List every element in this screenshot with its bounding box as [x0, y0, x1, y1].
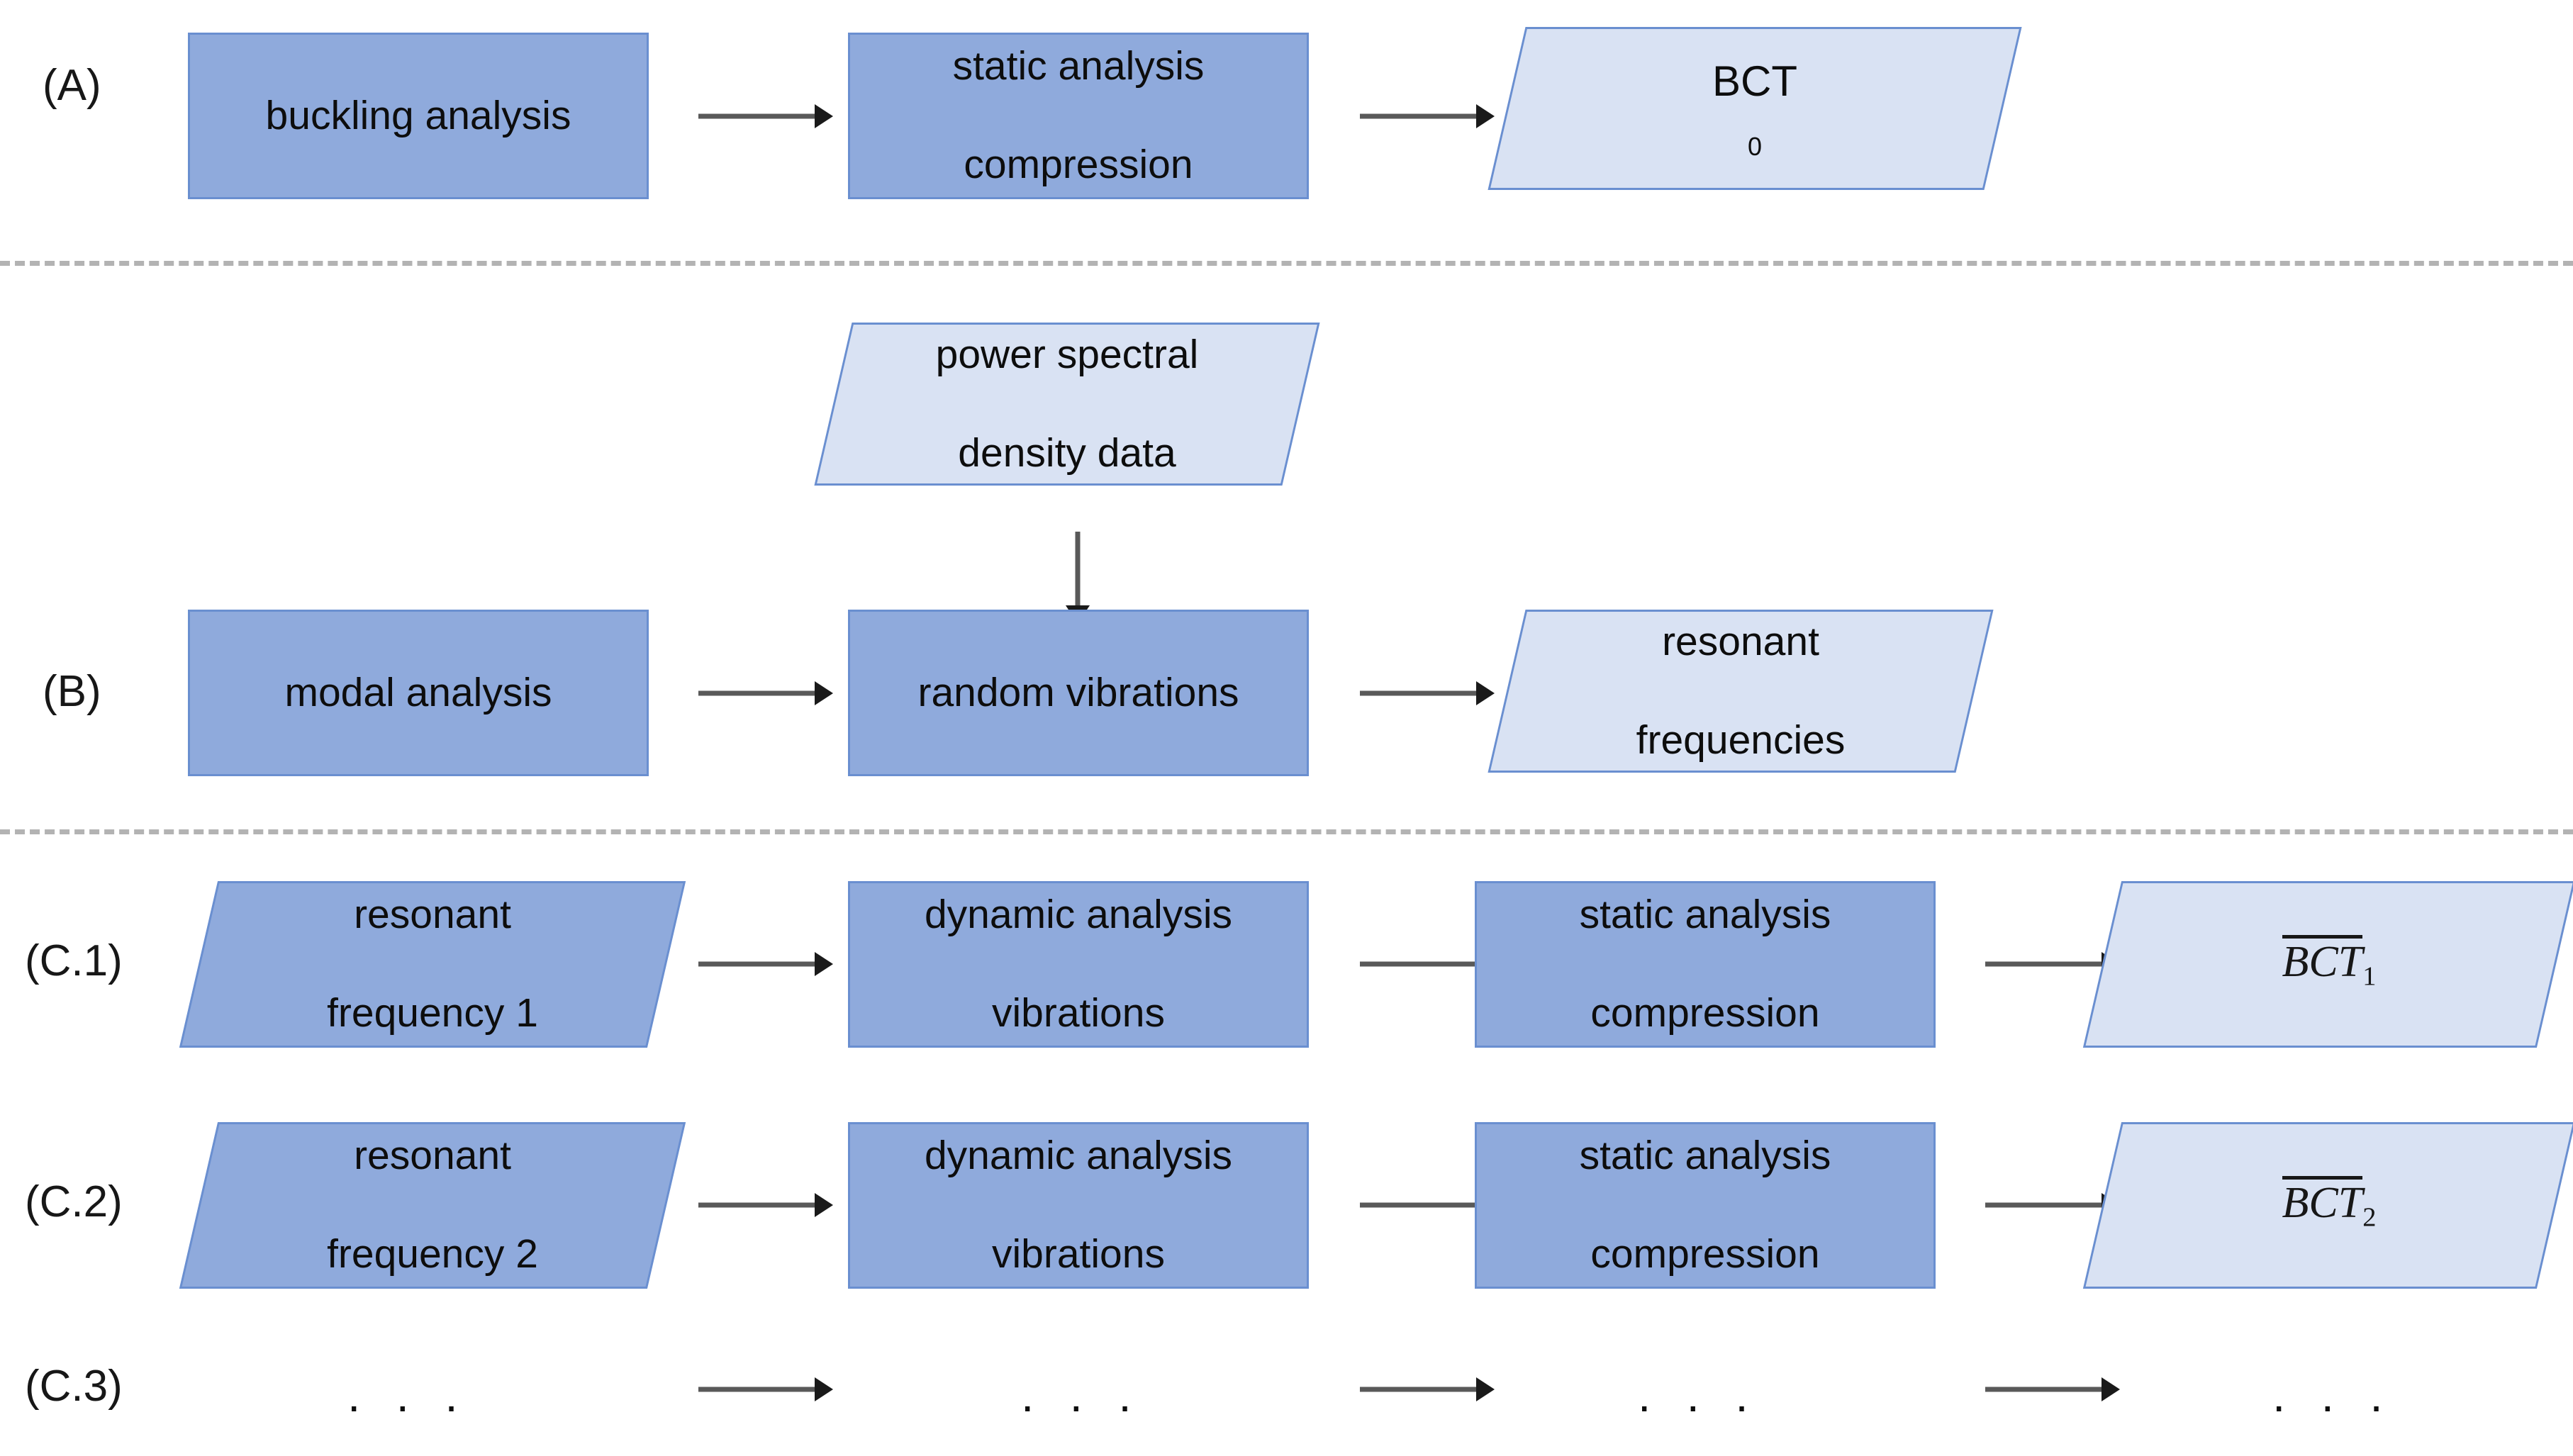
- row-label-c1: (C.1): [25, 939, 123, 983]
- process-dynamic-analysis-vibrations-c1[interactable]: dynamic analysis vibrations: [848, 881, 1309, 1048]
- process-static-analysis-compression-c1[interactable]: static analysis compression: [1475, 881, 1936, 1048]
- line-2: density data: [936, 429, 1199, 478]
- data-bct2[interactable]: BCT2: [2102, 1122, 2556, 1289]
- psd-lines: power spectral density data: [936, 330, 1199, 478]
- arrow-c1-1: [698, 950, 833, 978]
- bct2-label: BCT2: [2282, 1176, 2377, 1234]
- arrow-c3-1: [698, 1375, 833, 1404]
- process-buckling-analysis-label: buckling analysis: [256, 91, 581, 141]
- line-1: dynamic analysis: [915, 1131, 1242, 1181]
- line-1: dynamic analysis: [915, 890, 1242, 940]
- data-resonant-frequencies-text: resonant frequencies: [1507, 610, 1975, 773]
- arrow-head: [815, 1377, 833, 1401]
- data-resonant-frequency-1[interactable]: resonant frequency 1: [199, 881, 666, 1048]
- arrow-head: [1476, 681, 1495, 705]
- process-dynamic-analysis-vibrations-c2-label: dynamic analysis vibrations: [905, 1131, 1252, 1279]
- process-modal-analysis-label: modal analysis: [274, 668, 562, 718]
- arrow-shaft: [698, 1203, 817, 1208]
- bct0-label: BCT0: [1712, 55, 1797, 162]
- arrow-shaft: [1985, 1387, 2104, 1392]
- bct1-label: BCT1: [2282, 935, 2377, 993]
- resonant-frequency-2-lines: resonant frequency 2: [327, 1131, 538, 1279]
- ellipsis-step1-c3: . . .: [1021, 1372, 1143, 1418]
- data-resonant-frequency-2-text: resonant frequency 2: [199, 1122, 666, 1289]
- arrow-b-2: [1360, 679, 1495, 707]
- arrow-shaft: [698, 962, 817, 967]
- line-1: resonant: [327, 1131, 538, 1181]
- process-static-analysis-compression-a[interactable]: static analysis compression: [848, 33, 1309, 199]
- resonant-frequency-1-lines: resonant frequency 1: [327, 890, 538, 1038]
- data-resonant-frequency-1-text: resonant frequency 1: [199, 881, 666, 1048]
- arrow-head: [815, 952, 833, 976]
- line-2: compression: [1570, 1230, 1841, 1279]
- arrow-c3-3: [1985, 1375, 2120, 1404]
- arrow-head: [1476, 1377, 1495, 1401]
- data-bct2-text: BCT2: [2102, 1122, 2556, 1289]
- process-dynamic-analysis-vibrations-c2[interactable]: dynamic analysis vibrations: [848, 1122, 1309, 1289]
- arrow-c2-1: [698, 1191, 833, 1219]
- data-bct1[interactable]: BCT1: [2102, 881, 2556, 1048]
- arrow-c3-2: [1360, 1375, 1495, 1404]
- line-2: compression: [1570, 989, 1841, 1038]
- ellipsis-output-c3: . . .: [2272, 1372, 2394, 1418]
- arrow-shaft: [1360, 1387, 1479, 1392]
- ellipsis-input-c3: . . .: [347, 1372, 469, 1418]
- arrow-shaft: [1360, 1203, 1479, 1208]
- line-1: resonant: [327, 890, 538, 940]
- data-bct0-text: BCT0: [1507, 27, 2003, 190]
- arrow-shaft: [1360, 114, 1479, 119]
- process-static-analysis-compression-c2[interactable]: static analysis compression: [1475, 1122, 1936, 1289]
- row-label-a: (A): [43, 64, 101, 108]
- line-1: static analysis: [1570, 1131, 1841, 1181]
- process-static-analysis-compression-c2-label: static analysis compression: [1560, 1131, 1851, 1279]
- line-2: vibrations: [915, 1230, 1242, 1279]
- bct1-sub: 1: [2362, 962, 2376, 992]
- bct1-base: BCT: [2282, 935, 2363, 984]
- arrow-a-1: [698, 102, 833, 130]
- line-2: frequencies: [1636, 716, 1846, 766]
- process-random-vibrations[interactable]: random vibrations: [848, 610, 1309, 776]
- bct2-base: BCT: [2282, 1176, 2363, 1225]
- resonant-frequencies-lines: resonant frequencies: [1636, 617, 1846, 766]
- process-dynamic-analysis-vibrations-c1-label: dynamic analysis vibrations: [905, 890, 1252, 1038]
- arrow-shaft: [1985, 962, 2104, 967]
- row-label-c2: (C.2): [25, 1180, 123, 1224]
- arrow-head: [815, 104, 833, 128]
- arrow-shaft: [1360, 962, 1479, 967]
- process-buckling-analysis[interactable]: buckling analysis: [188, 33, 649, 199]
- data-bct1-text: BCT1: [2102, 881, 2556, 1048]
- arrow-shaft: [698, 691, 817, 696]
- divider-a-b: [0, 261, 2573, 266]
- data-power-spectral-density[interactable]: power spectral density data: [833, 323, 1301, 486]
- flowchart-canvas: (A) buckling analysis static analysis co…: [0, 0, 2573, 1456]
- arrow-shaft: [698, 1387, 817, 1392]
- line-2: compression: [943, 140, 1215, 190]
- data-power-spectral-density-text: power spectral density data: [833, 323, 1301, 486]
- line-1: resonant: [1636, 617, 1846, 667]
- process-static-analysis-compression-c1-label: static analysis compression: [1560, 890, 1851, 1038]
- line-1: power spectral: [936, 330, 1199, 380]
- bct2-sub: 2: [2362, 1203, 2376, 1233]
- line-1: static analysis: [943, 42, 1215, 91]
- arrow-head: [815, 1193, 833, 1217]
- process-random-vibrations-label: random vibrations: [908, 668, 1249, 718]
- bct0-sub: 0: [1748, 132, 1762, 161]
- process-modal-analysis[interactable]: modal analysis: [188, 610, 649, 776]
- arrow-head: [1476, 104, 1495, 128]
- arrow-shaft: [1076, 532, 1081, 608]
- process-static-analysis-compression-a-label: static analysis compression: [933, 42, 1224, 190]
- arrow-shaft: [1985, 1203, 2104, 1208]
- line-2: frequency 2: [327, 1230, 538, 1279]
- arrow-b-1: [698, 679, 833, 707]
- bct0-base: BCT: [1712, 55, 1797, 107]
- arrow-shaft: [698, 114, 817, 119]
- arrow-shaft: [1360, 691, 1479, 696]
- data-resonant-frequency-2[interactable]: resonant frequency 2: [199, 1122, 666, 1289]
- arrow-a-2: [1360, 102, 1495, 130]
- data-resonant-frequencies[interactable]: resonant frequencies: [1507, 610, 1975, 773]
- row-label-c3: (C.3): [25, 1365, 123, 1409]
- line-1: static analysis: [1570, 890, 1841, 940]
- data-bct0[interactable]: BCT0: [1507, 27, 2003, 190]
- ellipsis-step2-c3: . . .: [1638, 1372, 1760, 1418]
- arrow-head: [2102, 1377, 2120, 1401]
- arrow-head: [815, 681, 833, 705]
- divider-b-c: [0, 829, 2573, 834]
- line-2: frequency 1: [327, 989, 538, 1038]
- line-2: vibrations: [915, 989, 1242, 1038]
- row-label-b: (B): [43, 670, 101, 714]
